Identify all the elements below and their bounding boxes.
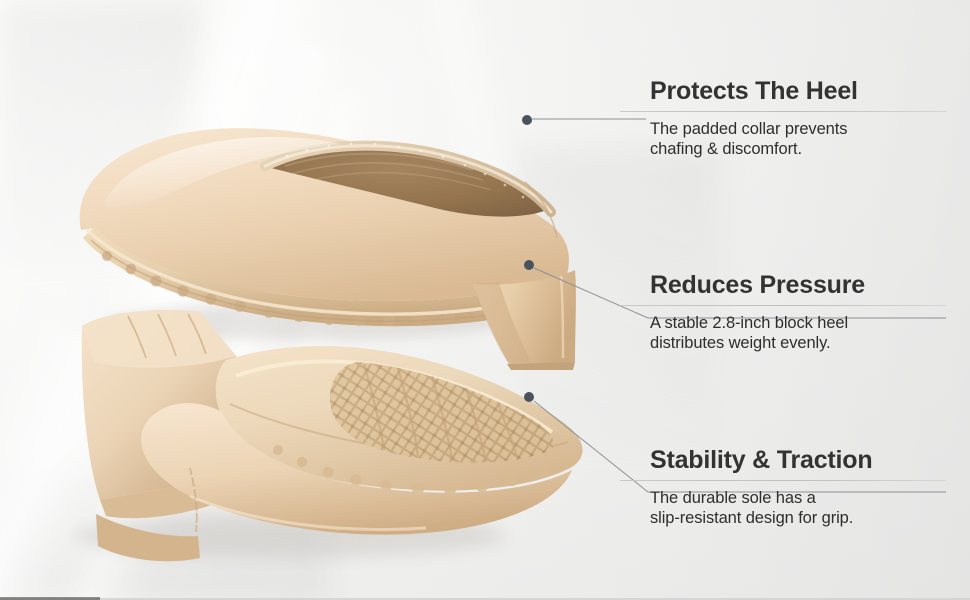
infographic-canvas: Protects The Heel The padded collar prev… bbox=[0, 0, 970, 600]
callout-body-line: distributes weight evenly. bbox=[650, 333, 950, 353]
shoe-sole-view-svg bbox=[40, 300, 600, 570]
shoe-sole-view-image bbox=[40, 300, 600, 570]
callout-body-line: chafing & discomfort. bbox=[650, 139, 950, 159]
callout-divider bbox=[620, 480, 946, 481]
callout-body-line: slip-resistant design for grip. bbox=[650, 508, 950, 528]
callout-reduces-pressure: Reduces Pressure A stable 2.8-inch block… bbox=[620, 272, 950, 354]
callout-body: A stable 2.8-inch block heel distributes… bbox=[650, 313, 950, 353]
callout-body: The padded collar prevents chafing & dis… bbox=[650, 119, 950, 159]
callout-title: Protects The Heel bbox=[650, 78, 950, 104]
callout-body: The durable sole has a slip-resistant de… bbox=[650, 488, 950, 528]
callout-body-line: The padded collar prevents bbox=[650, 119, 950, 139]
callout-title: Reduces Pressure bbox=[650, 272, 950, 298]
callout-body-line: The durable sole has a bbox=[650, 488, 950, 508]
callout-stability-and-traction: Stability & Traction The durable sole ha… bbox=[620, 447, 950, 529]
callout-title: Stability & Traction bbox=[650, 447, 950, 473]
callout-body-line: A stable 2.8-inch block heel bbox=[650, 313, 950, 333]
heel-top-face bbox=[82, 310, 236, 368]
callout-protects-the-heel: Protects The Heel The padded collar prev… bbox=[620, 78, 950, 160]
callout-divider bbox=[620, 111, 946, 112]
callout-divider bbox=[620, 305, 946, 306]
